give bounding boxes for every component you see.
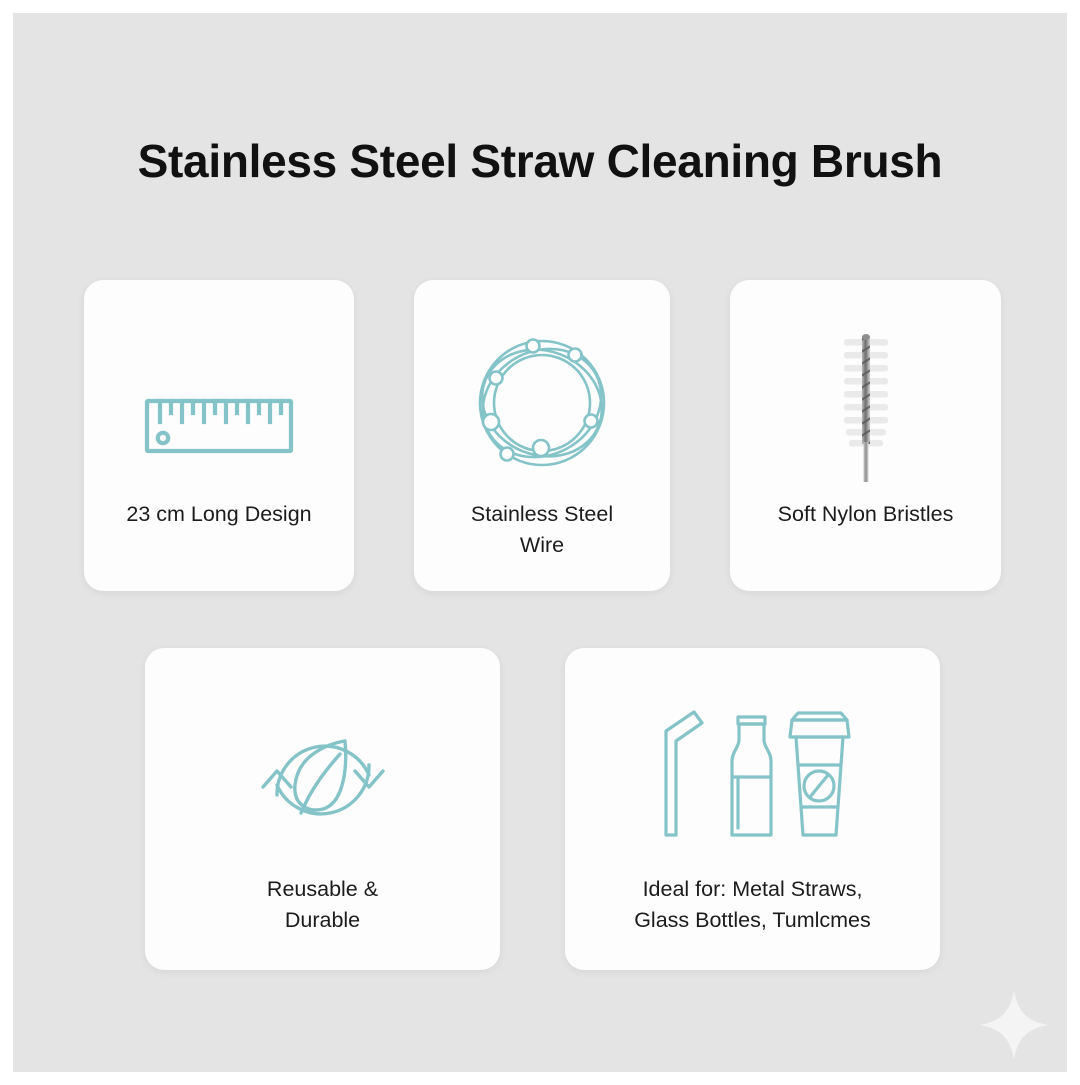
- label-line: 23 cm Long Design: [84, 499, 354, 530]
- label-line: Glass Bottles, Tumlᴄmes: [565, 905, 940, 936]
- four-point-star-sparkle-icon: [977, 988, 1051, 1062]
- label-line: Wire: [414, 530, 670, 561]
- feature-label-brush: Soft Nylon Bristles: [730, 499, 1001, 530]
- recycle-leaf-icon-wrapper: [145, 704, 500, 854]
- label-line: Stainless Steel: [414, 499, 670, 530]
- feature-label-length: 23 cm Long Design: [84, 499, 354, 530]
- feature-card-brush[interactable]: [730, 280, 1001, 591]
- label-line: Reusable &: [145, 874, 500, 905]
- infographic-canvas: Stainless Steel Straw Cleaning Brush: [13, 13, 1067, 1072]
- recycle-leaf-icon: [249, 709, 397, 849]
- bristle-brush-icon: [831, 328, 901, 483]
- label-line: Soft Nylon Bristles: [730, 499, 1001, 530]
- feature-label-wire: Stainless Steel Wire: [414, 499, 670, 560]
- label-line: Ideal for: Metal Straws,: [565, 874, 940, 905]
- ruler-icon: [144, 398, 294, 454]
- feature-label-ideal: Ideal for: Metal Straws, Glass Bottles, …: [565, 874, 940, 935]
- feature-card-length[interactable]: [84, 280, 354, 591]
- page-title: Stainless Steel Straw Cleaning Brush: [13, 134, 1067, 188]
- straw-bottle-cup-icon: [653, 704, 853, 844]
- ruler-icon-wrapper: [84, 388, 354, 464]
- straw-bottle-cup-icon-wrapper: [565, 694, 940, 854]
- coiled-wire-icon: [469, 330, 615, 476]
- label-line: Durable: [145, 905, 500, 936]
- bristle-brush-icon-wrapper: [730, 328, 1001, 483]
- feature-label-reuse: Reusable & Durable: [145, 874, 500, 935]
- coiled-wire-icon-wrapper: [414, 328, 670, 478]
